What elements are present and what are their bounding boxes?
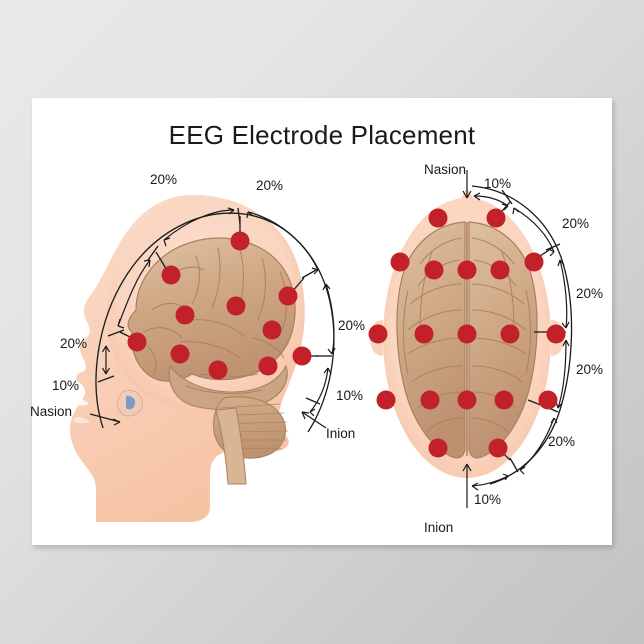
electrode[interactable] [209,361,228,380]
page-title: EEG Electrode Placement [32,120,612,151]
electrode[interactable] [391,253,410,272]
electrode[interactable] [425,261,444,280]
electrode[interactable] [369,325,388,344]
electrode[interactable] [227,297,246,316]
electrode[interactable] [279,287,298,306]
label-10-percent-front-superior: 10% [484,176,511,191]
electrode[interactable] [231,232,250,251]
electrode[interactable] [525,253,544,272]
electrode[interactable] [489,439,508,458]
poster-backdrop: EEG Electrode Placement [0,0,644,644]
label-inion-superior: Inion [424,520,453,535]
poster-canvas: EEG Electrode Placement [32,98,612,545]
electrode[interactable] [128,333,147,352]
label-20-percent-front: 20% [60,336,87,351]
electrode[interactable] [429,439,448,458]
ear-icon [117,390,142,416]
label-20-percent-b-superior: 20% [576,286,603,301]
label-20-percent-top-right: 20% [256,178,283,193]
electrode[interactable] [547,325,566,344]
electrode[interactable] [458,391,477,410]
electrode[interactable] [539,391,558,410]
electrode[interactable] [501,325,520,344]
electrode[interactable] [458,261,477,280]
electrode[interactable] [495,391,514,410]
electrode[interactable] [259,357,278,376]
electrode[interactable] [429,209,448,228]
figure-lateral-view: 20% 10% Nasion 20% 20% 20% 10% Inion [40,160,370,540]
label-20-percent-back: 20% [338,318,365,333]
label-20-percent-c-superior: 20% [576,362,603,377]
electrode[interactable] [377,391,396,410]
label-20-percent-a-superior: 20% [562,216,589,231]
electrode[interactable] [421,391,440,410]
label-inion: Inion [326,426,355,441]
electrode[interactable] [491,261,510,280]
label-20-percent-d-superior: 20% [548,434,575,449]
electrode[interactable] [458,325,477,344]
label-10-percent-front: 10% [52,378,79,393]
electrode[interactable] [293,347,312,366]
figure-superior-view: Nasion 10% 20% 20% 20% 20% 10% Inion [362,160,612,540]
label-nasion: Nasion [30,404,72,419]
electrode[interactable] [176,306,195,325]
electrode[interactable] [415,325,434,344]
electrode[interactable] [171,345,190,364]
electrode[interactable] [162,266,181,285]
electrode[interactable] [487,209,506,228]
label-20-percent-top-left: 20% [150,172,177,187]
label-10-percent-back: 10% [336,388,363,403]
label-10-percent-back-superior: 10% [474,492,501,507]
label-nasion-superior: Nasion [424,162,466,177]
electrode[interactable] [263,321,282,340]
